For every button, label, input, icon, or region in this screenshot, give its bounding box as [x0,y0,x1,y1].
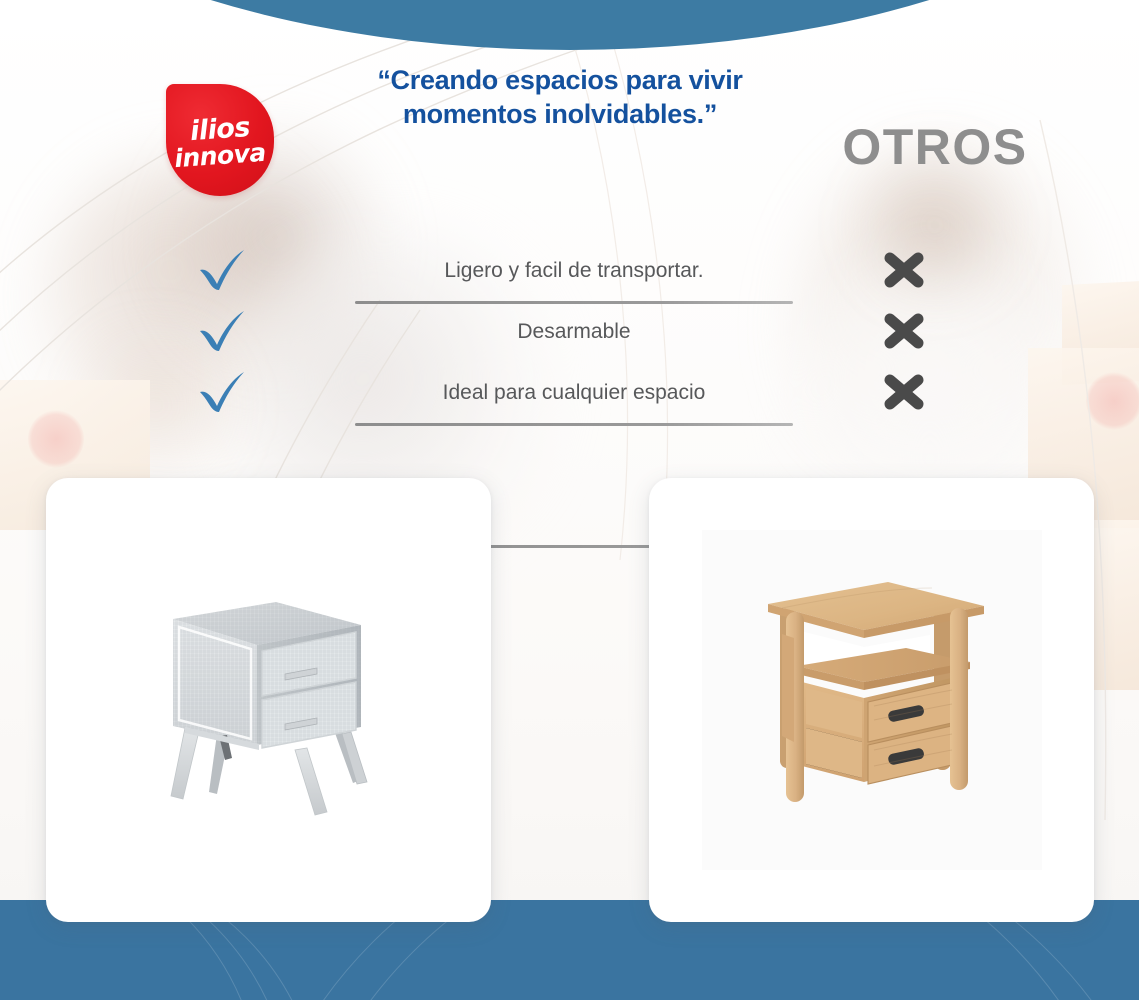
cross-icon [880,370,928,414]
product-image-gray-nightstand [46,478,491,922]
infographic-canvas: ilios innova “Creando espacios para vivi… [0,0,1139,1000]
check-icon [196,307,248,355]
product-image-oak-nightstand [649,478,1094,922]
comparison-row: Desarmable [0,301,1139,362]
row-divider [355,423,793,426]
background-box-lower-right [1094,520,1139,690]
comparison-table: Ligero y facil de transportar. Desarmabl… [0,240,1139,423]
comparison-row: Ideal para cualquier espacio [0,362,1139,423]
product-card-ours[interactable] [46,478,491,922]
check-icon [196,368,248,416]
product-card-competitor[interactable] [649,478,1094,922]
competitor-column-heading: OTROS [800,118,1070,176]
cross-icon [880,248,928,292]
feature-label: Desarmable [355,301,793,362]
brand-logo: ilios innova [166,84,274,196]
logo-text-innova: innova [173,138,266,173]
headline-quote: “Creando espacios para vivir momentos in… [330,64,790,132]
feature-label: Ligero y facil de transportar. [355,240,793,301]
feature-label: Ideal para cualquier espacio [355,362,793,423]
check-icon [196,246,248,294]
comparison-row: Ligero y facil de transportar. [0,240,1139,301]
cross-icon [880,309,928,353]
